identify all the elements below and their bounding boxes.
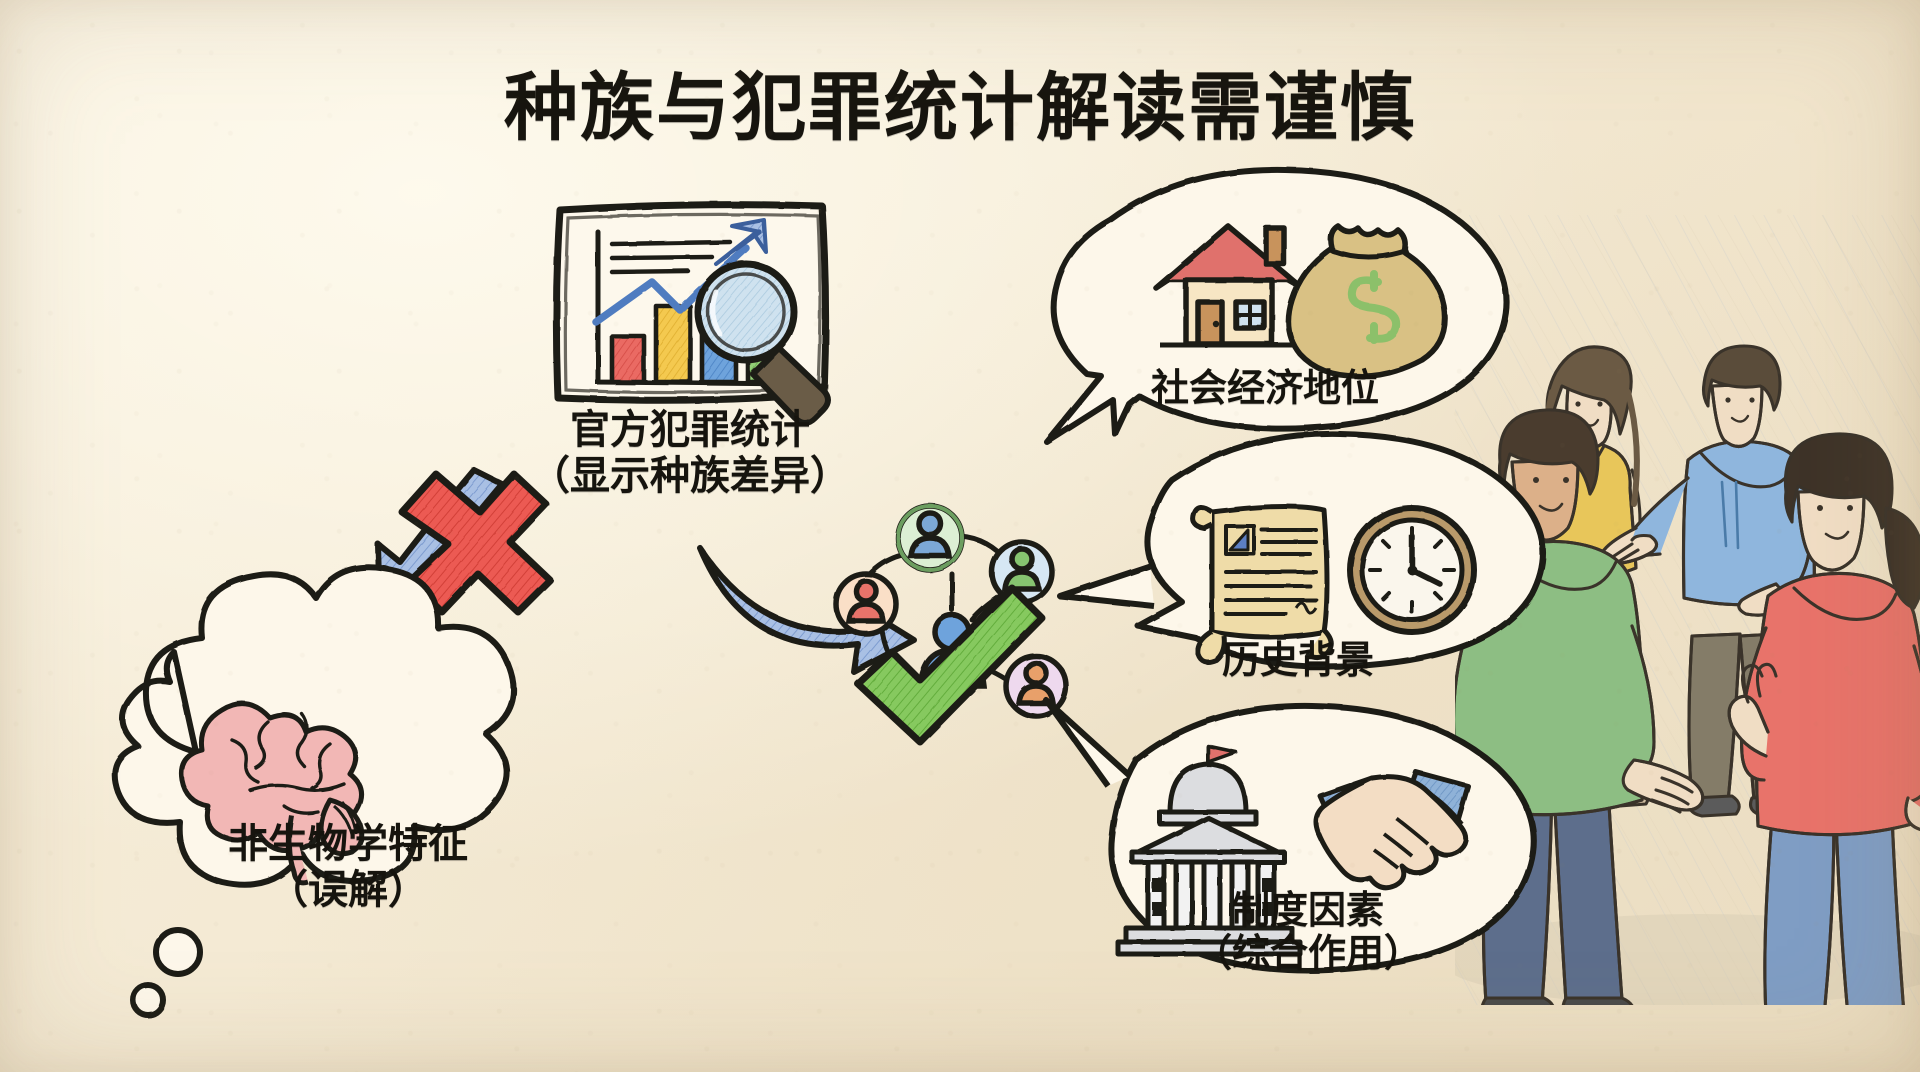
bar-chart-with-magnifier-icon [556, 205, 828, 423]
page-title: 种族与犯罪统计解读需谨慎 [0, 48, 1920, 155]
caption-socioeconomic-status: 社会经济地位 [1100, 368, 1430, 411]
people-network-icon [836, 506, 1066, 742]
clock-icon [1350, 508, 1474, 632]
caption-institutional-factors: 制度因素 （综合作用） [1148, 890, 1468, 977]
bubble-historical [1060, 434, 1543, 667]
caption-official-crime-statistics: 官方犯罪统计 （显示种族差异） [500, 408, 880, 499]
infographic-canvas: 种族与犯罪统计解读需谨慎 官方犯罪统计 （显示种族差异） 非生物学特征 （误解）… [0, 0, 1920, 1072]
thought-cloud-misconception [115, 567, 514, 1015]
caption-non-biological-trait: 非生物学特征 （误解） [148, 822, 548, 913]
caption-historical-context: 历史背景 [1168, 640, 1428, 683]
